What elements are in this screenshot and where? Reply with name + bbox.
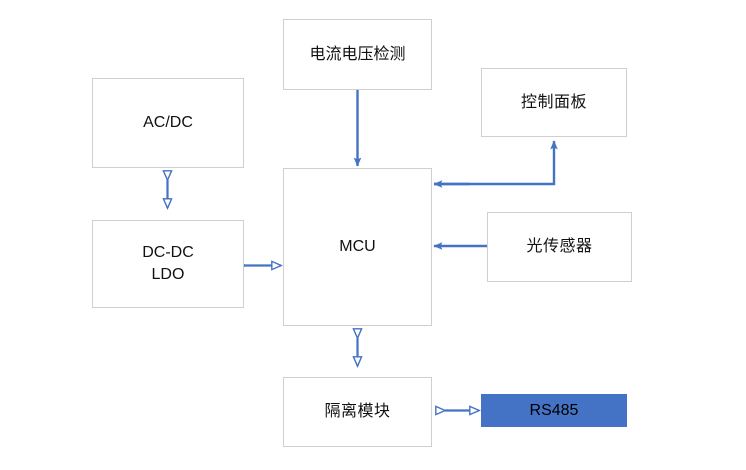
node-dc-dc-ldo[interactable]: DC-DC LDO (92, 220, 244, 308)
node-label-rs485: RS485 (530, 400, 579, 422)
node-label-light-sensor: 光传感器 (526, 236, 592, 258)
node-label-dc-dc-ldo: DC-DC LDO (142, 242, 194, 285)
node-rs485[interactable]: RS485 (481, 394, 627, 427)
node-label-isolation-module: 隔离模块 (324, 401, 390, 423)
connector-mcu-to-control-panel (434, 141, 554, 184)
node-control-panel[interactable]: 控制面板 (481, 68, 627, 137)
node-label-ac-dc: AC/DC (143, 112, 193, 134)
node-current-voltage-detection[interactable]: 电流电压检测 (283, 19, 432, 90)
node-mcu[interactable]: MCU (283, 168, 432, 326)
node-label-current-voltage-detection: 电流电压检测 (309, 44, 405, 66)
node-label-control-panel: 控制面板 (521, 92, 587, 114)
node-light-sensor[interactable]: 光传感器 (487, 212, 632, 282)
node-isolation-module[interactable]: 隔离模块 (283, 377, 432, 447)
node-ac-dc[interactable]: AC/DC (92, 78, 244, 168)
node-label-mcu: MCU (339, 236, 375, 258)
block-diagram-canvas: 电流电压检测 AC/DC 控制面板 DC-DC LDO MCU 光传感器 隔离模… (0, 0, 746, 470)
